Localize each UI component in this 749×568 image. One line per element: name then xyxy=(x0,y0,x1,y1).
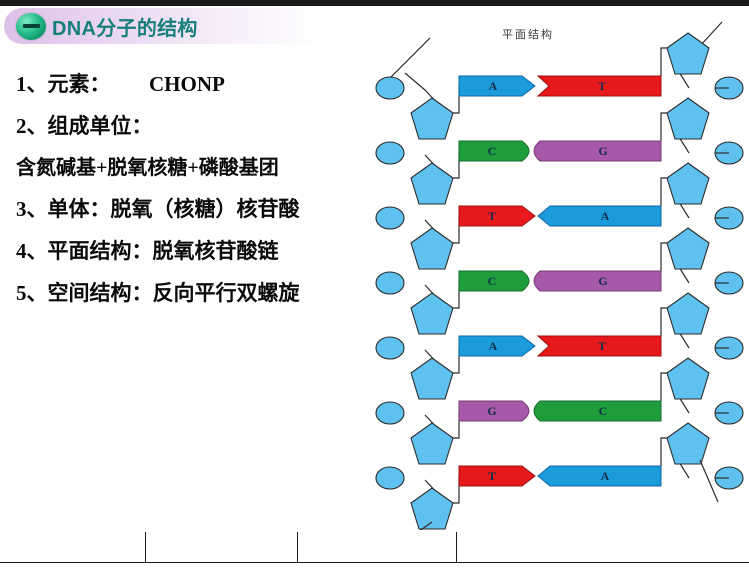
sugar-pentagon xyxy=(667,163,709,204)
base-pair-row: T A xyxy=(459,466,661,486)
list-item: 2、组成单位： xyxy=(16,116,366,137)
sugar-pentagon xyxy=(411,423,453,464)
sugar-pentagon xyxy=(667,98,709,139)
phosphate-circle xyxy=(376,467,404,489)
list-item: 3、单体：脱氧（核糖）核苷酸 xyxy=(16,199,366,220)
base-pair-row: G C xyxy=(459,401,661,421)
base-pair-row: A T xyxy=(459,336,661,356)
footer-divider xyxy=(297,532,298,563)
base-label-left: A xyxy=(489,79,498,93)
slide-title-bar: DNA分子的结构 xyxy=(4,8,324,44)
list-item: 1、元素： CHONP xyxy=(16,74,366,95)
footer-horizontal-rule xyxy=(0,562,749,563)
base-label-left: A xyxy=(489,339,498,353)
right-backbone xyxy=(661,22,743,502)
phosphate-circle xyxy=(376,272,404,294)
bullet-text-unit-detail: 含氮碱基+脱氧核糖+磷酸基团 xyxy=(16,157,279,179)
base-label-left: C xyxy=(488,144,497,158)
base-label-left: G xyxy=(487,404,496,418)
sugar-pentagon xyxy=(667,358,709,399)
list-item: 含氮碱基+脱氧核糖+磷酸基团 xyxy=(16,158,366,178)
slide-canvas: DNA分子的结构 1、元素： CHONP 2、组成单位： 含氮碱基+脱氧核糖+磷… xyxy=(0,0,749,568)
base-pair-row: C G xyxy=(459,271,661,291)
bullet-text-monomer: 3、单体：脱氧（核糖）核苷酸 xyxy=(16,197,300,221)
list-item: 4、平面结构：脱氧核苷酸链 xyxy=(16,241,366,262)
base-label-right: T xyxy=(598,79,606,93)
sugar-pentagon xyxy=(667,228,709,269)
phosphate-circle xyxy=(376,207,404,229)
phosphate-circle xyxy=(376,77,404,99)
base-label-right: A xyxy=(601,469,610,483)
bullet-text-spatial: 5、空间结构：反向平行双螺旋 xyxy=(16,281,300,305)
base-label-right: A xyxy=(601,209,610,223)
left-backbone xyxy=(376,38,459,530)
sugar-pentagon xyxy=(667,33,709,74)
sugar-pentagon xyxy=(411,228,453,269)
sugar-pentagon xyxy=(411,163,453,204)
sugar-pentagon xyxy=(667,423,709,464)
sugar-pentagon xyxy=(411,358,453,399)
base-label-right: G xyxy=(598,274,607,288)
bullet-text-unit: 2、组成单位： xyxy=(16,114,153,138)
content-bullet-list: 1、元素： CHONP 2、组成单位： 含氮碱基+脱氧核糖+磷酸基团 3、单体：… xyxy=(16,74,366,325)
sugar-pentagon xyxy=(411,488,453,529)
base-pair-row: A T xyxy=(459,76,661,96)
bullet-value-elements: CHONP xyxy=(149,72,225,96)
dna-planar-structure-diagram: 平面结构 xyxy=(370,10,749,530)
base-pair-row: T A xyxy=(459,206,661,226)
bullet-text-planar: 4、平面结构：脱氧核苷酸链 xyxy=(16,239,279,263)
dna-diagram-svg: A T C G T A C G xyxy=(370,10,749,530)
sugar-pentagon xyxy=(411,98,453,139)
page-title: DNA分子的结构 xyxy=(52,12,198,41)
sugar-pentagon xyxy=(411,293,453,334)
bullet-text-elements: 1、元素： xyxy=(16,72,111,96)
list-item: 5、空间结构：反向平行双螺旋 xyxy=(16,283,366,304)
phosphate-circle xyxy=(376,142,404,164)
phosphate-circle xyxy=(376,337,404,359)
base-label-right: T xyxy=(598,339,606,353)
base-label-right: C xyxy=(599,404,608,418)
footer-divider xyxy=(145,532,146,563)
base-pair-row: C G xyxy=(459,141,661,161)
base-label-left: T xyxy=(488,209,496,223)
base-label-left: C xyxy=(488,274,497,288)
base-label-right: G xyxy=(598,144,607,158)
top-black-strip xyxy=(0,0,749,6)
sugar-pentagon xyxy=(667,293,709,334)
minus-circle-icon xyxy=(16,13,46,40)
base-label-left: T xyxy=(488,469,496,483)
phosphate-circle xyxy=(376,402,404,424)
footer-divider xyxy=(456,532,457,563)
